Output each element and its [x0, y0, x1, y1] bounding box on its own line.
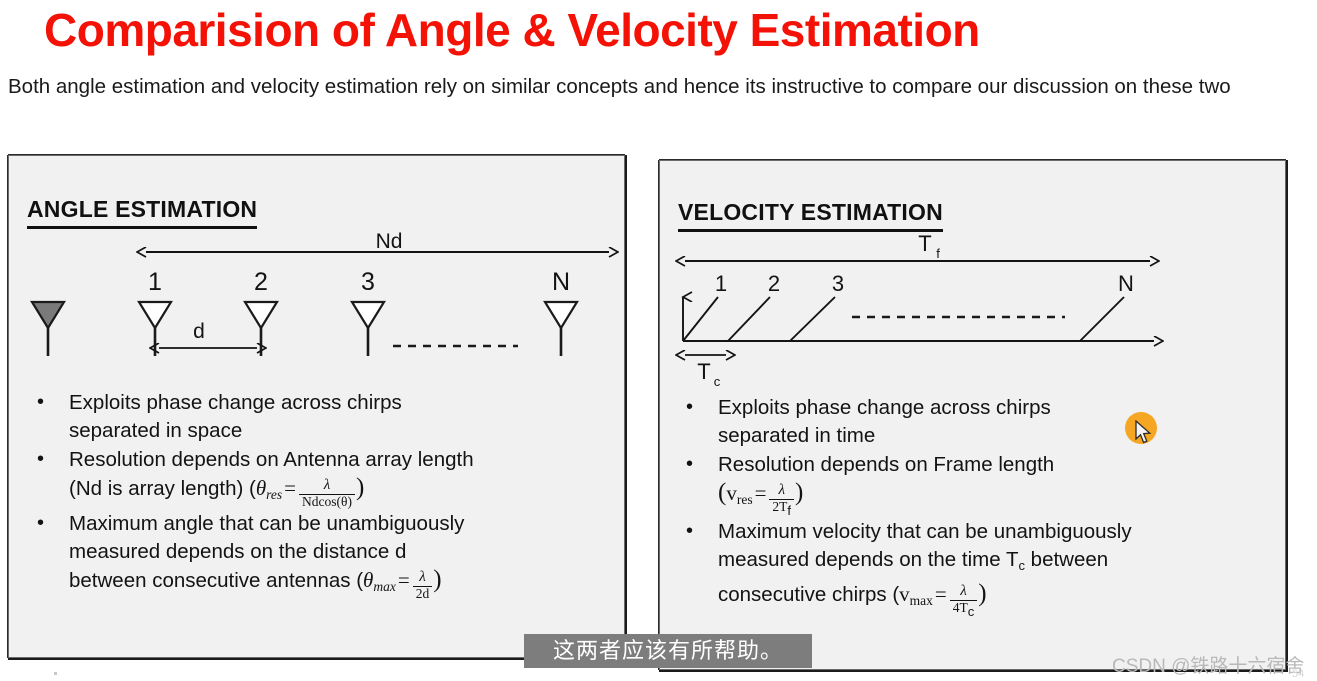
bullet-text-line: measured depends on the time T — [718, 548, 1018, 571]
list-item: • Maximum angle that can be unambiguousl… — [23, 510, 618, 601]
bullet-text-line: Exploits phase change across chirps — [718, 396, 1051, 419]
tx-antenna-icon — [32, 302, 64, 356]
list-item: • Maximum velocity that can be unambiguo… — [672, 518, 1277, 618]
formula-lhs: v — [899, 582, 910, 606]
velocity-bullet-list: • Exploits phase change across chirps se… — [672, 394, 1277, 620]
fraction-numerator: λ — [950, 584, 978, 601]
bullet-text-line: (Nd is array length) ( — [69, 477, 256, 500]
subtitle-overlay: 这两者应该有所帮助。 — [524, 634, 812, 668]
chirp-ramp-2 — [728, 297, 770, 341]
bullet-text-line: ) — [978, 580, 986, 607]
velocity-estimation-heading: VELOCITY ESTIMATION — [678, 199, 943, 232]
chirp-ramp-3 — [790, 297, 835, 341]
formula-operator: = — [933, 582, 949, 606]
tc-span-label-subscript: c — [714, 374, 721, 389]
bullet-dot: • — [686, 517, 693, 545]
bullet-dot: • — [37, 388, 44, 416]
fraction-denominator: 4Tc — [950, 601, 978, 619]
antenna-label-n: N — [552, 268, 570, 296]
antenna-label-1: 1 — [148, 268, 162, 296]
artifact-dot — [54, 672, 57, 675]
tf-span-label: T — [918, 231, 931, 256]
chirp-label-n: N — [1118, 271, 1134, 296]
chirp-ramp-1 — [683, 297, 718, 341]
nd-span-label: Nd — [376, 230, 403, 253]
watermark-text: CSDN @铁路十六宿舍 — [1112, 651, 1304, 678]
fraction-numerator: λ — [769, 483, 794, 500]
rx-antenna-icon-3 — [352, 302, 384, 356]
slide-canvas: Comparision of Angle & Velocity Estimati… — [0, 0, 1317, 681]
formula-lhs: v — [726, 481, 737, 505]
list-item: • Exploits phase change across chirps se… — [23, 389, 618, 445]
bullet-text-line: between consecutive antennas ( — [69, 569, 363, 592]
list-item: • Resolution depends on Antenna array le… — [23, 446, 618, 509]
d-spacing-label: d — [193, 320, 205, 343]
denominator-main: 2T — [772, 499, 787, 514]
angle-bullet-list: • Exploits phase change across chirps se… — [23, 389, 618, 602]
bullet-text-line: Maximum angle that can be unambiguously — [69, 512, 464, 535]
tc-span-label: T — [697, 359, 710, 384]
fraction-denominator: 2Tf — [769, 500, 794, 518]
bullet-text-line: ) — [433, 566, 441, 593]
bullet-text-line: ) — [356, 474, 364, 501]
rx-antenna-icon-n — [545, 302, 577, 356]
formula-fraction: λNdcos(θ) — [299, 478, 355, 509]
denominator-subscript: c — [968, 604, 975, 619]
velocity-estimation-panel: VELOCITY ESTIMATION T f 1 2 — [659, 160, 1286, 670]
denominator-main: 4T — [953, 600, 968, 615]
bullet-text-line: Resolution depends on Frame length — [718, 453, 1054, 476]
bullet-text-line: separated in time — [718, 424, 875, 447]
list-item: • Exploits phase change across chirps se… — [672, 394, 1277, 450]
fraction-numerator: λ — [299, 478, 355, 495]
fraction-denominator: Ndcos(θ) — [299, 495, 355, 509]
page-title: Comparision of Angle & Velocity Estimati… — [44, 2, 1284, 58]
formula-lhs-subscript: res — [266, 487, 282, 502]
chirp-ramp-n — [1080, 297, 1124, 341]
chirp-frame-diagram: T f 1 2 3 N T c — [660, 229, 1286, 394]
chirp-label-3: 3 — [832, 271, 844, 296]
bullet-dot: • — [686, 450, 693, 478]
bullet-text-line: measured depends on the distance d — [69, 540, 406, 563]
bullet-text-line: Resolution depends on Antenna array leng… — [69, 448, 474, 471]
formula-fraction: λ2d — [413, 570, 433, 601]
bullet-text-line: between — [1025, 548, 1108, 571]
angle-estimation-panel: ANGLE ESTIMATION Nd 1 2 3 N — [8, 155, 625, 658]
bullet-text-line: Maximum velocity that can be unambiguous… — [718, 520, 1132, 543]
list-item: • Resolution depends on Frame length (vr… — [672, 451, 1277, 517]
tf-span-label-subscript: f — [936, 246, 940, 261]
angle-estimation-heading: ANGLE ESTIMATION — [27, 196, 257, 229]
formula-lhs-subscript: max — [373, 579, 396, 594]
antenna-label-2: 2 — [254, 268, 268, 296]
antenna-array-diagram: Nd 1 2 3 N — [9, 226, 625, 386]
bullet-text-line: Exploits phase change across chirps — [69, 391, 402, 414]
bullet-text-line: separated in space — [69, 419, 242, 442]
formula-operator: = — [282, 476, 298, 500]
formula-lhs-subscript: res — [737, 492, 753, 507]
formula-lhs: θ — [363, 568, 373, 592]
bullet-text-line: ) — [795, 479, 803, 506]
mouse-cursor-icon — [1135, 420, 1153, 446]
bullet-dot: • — [686, 393, 693, 421]
antenna-label-3: 3 — [361, 268, 375, 296]
formula-operator: = — [396, 568, 412, 592]
formula-fraction: λ2Tf — [769, 483, 794, 518]
formula-lhs: θ — [256, 476, 266, 500]
chirp-label-1: 1 — [715, 271, 727, 296]
bullet-dot: • — [37, 509, 44, 537]
page-number: 54 — [1292, 668, 1304, 680]
bullet-dot: • — [37, 445, 44, 473]
chirp-label-2: 2 — [768, 271, 780, 296]
intro-paragraph: Both angle estimation and velocity estim… — [8, 72, 1308, 102]
formula-lhs-subscript: max — [910, 593, 933, 608]
formula-fraction: λ4Tc — [950, 584, 978, 619]
denominator-subscript: f — [787, 503, 791, 518]
fraction-denominator: 2d — [413, 587, 433, 601]
formula-operator: = — [753, 481, 769, 505]
bullet-text-line: consecutive chirps ( — [718, 583, 899, 606]
fraction-numerator: λ — [413, 570, 433, 587]
